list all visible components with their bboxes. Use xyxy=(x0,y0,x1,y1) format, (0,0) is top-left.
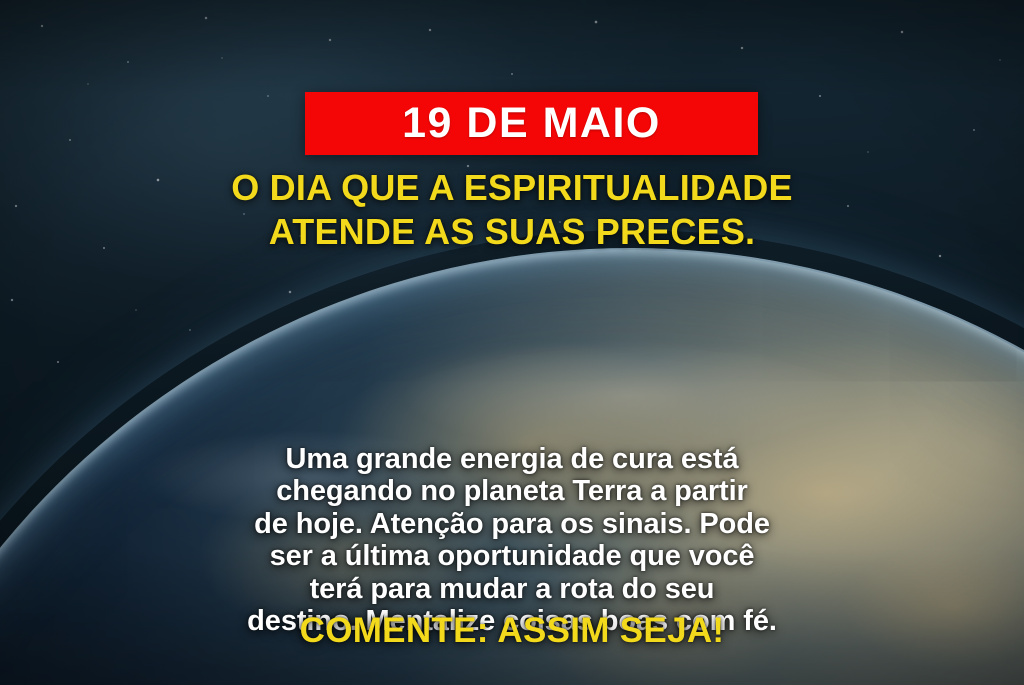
date-banner: 19 DE MAIO xyxy=(305,92,758,155)
body-line-3: de hoje. Atenção para os sinais. Pode xyxy=(45,508,979,540)
body-paragraph: Uma grande energia de cura está chegando… xyxy=(0,443,1024,638)
body-line-2: chegando no planeta Terra a partir xyxy=(45,475,979,507)
date-banner-label: 19 DE MAIO xyxy=(402,102,661,145)
call-to-action-text: COMENTE: ASSIM SEJA! xyxy=(0,612,1024,651)
headline-line-2: ATENDE AS SUAS PRECES. xyxy=(50,210,974,254)
body-line-4: ser a última oportunidade que você xyxy=(45,540,979,572)
body-line-1: Uma grande energia de cura está xyxy=(45,443,979,475)
headline-line-1: O DIA QUE A ESPIRITUALIDADE xyxy=(50,166,974,210)
headline: O DIA QUE A ESPIRITUALIDADE ATENDE AS SU… xyxy=(0,166,1024,254)
body-line-5: terá para mudar a rota do seu xyxy=(45,573,979,605)
poster-canvas: 19 DE MAIO O DIA QUE A ESPIRITUALIDADE A… xyxy=(0,0,1024,685)
poster-content: 19 DE MAIO O DIA QUE A ESPIRITUALIDADE A… xyxy=(0,0,1024,685)
